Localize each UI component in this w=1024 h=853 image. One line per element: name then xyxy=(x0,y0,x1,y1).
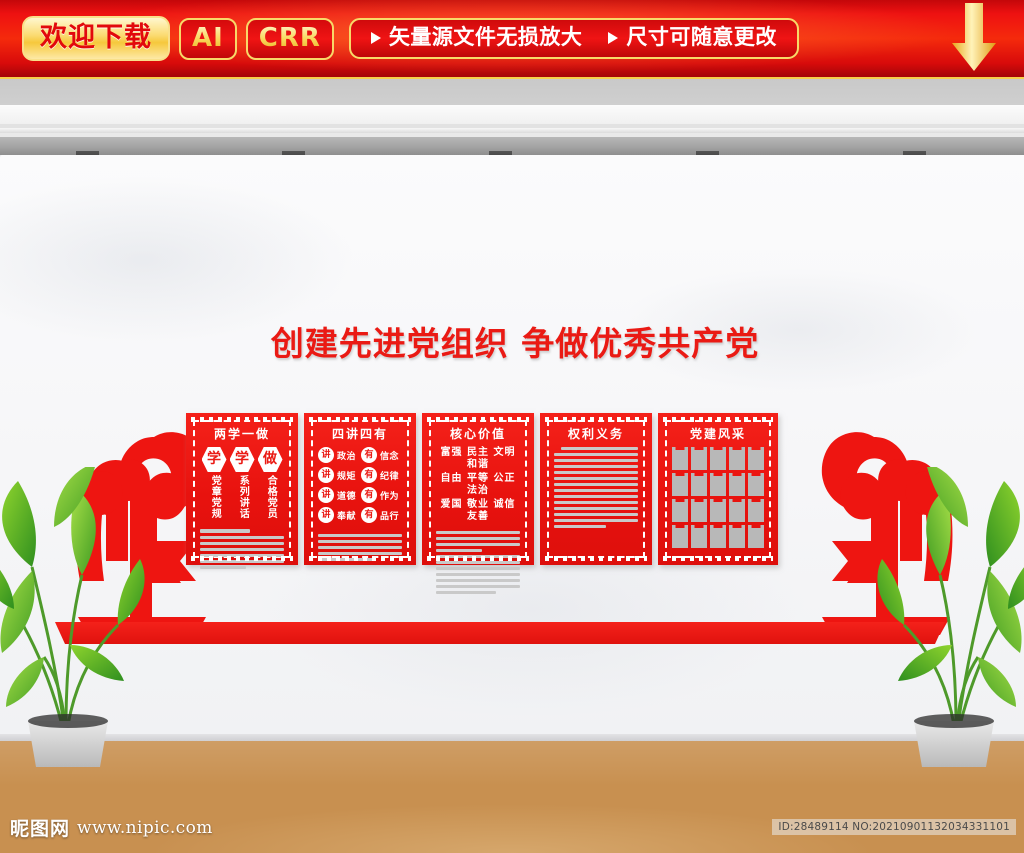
placeholder-line xyxy=(436,531,520,534)
promo-banner: 欢迎下载 AI CRR 矢量源文件无损放大 尺寸可随意更改 xyxy=(0,0,1024,79)
photo-grid xyxy=(672,447,764,548)
virtue-label: 道德 xyxy=(337,489,356,502)
placeholder-line xyxy=(554,483,638,486)
room-scene: 创建先进党组织 争做优秀共产党 xyxy=(0,79,1024,853)
format-tag-crr-label: CRR xyxy=(259,23,321,53)
hex-badge-icon: 学 xyxy=(230,447,255,472)
badge-label: 系列讲话 xyxy=(237,475,248,519)
photo-placeholder[interactable] xyxy=(672,499,688,522)
site-logo: 昵图网 xyxy=(10,814,70,841)
photo-placeholder[interactable] xyxy=(729,473,745,496)
potted-plant-icon xyxy=(0,467,152,767)
panel-rights-and-duties[interactable]: 权利义务 xyxy=(540,413,652,565)
site-url: www.nipic.com xyxy=(77,818,213,838)
circle-badge-icon: 讲 xyxy=(318,467,334,483)
hex-badge-icon: 学 xyxy=(202,447,227,472)
placeholder-line xyxy=(554,465,638,468)
potted-plant-icon xyxy=(870,467,1024,767)
virtue-label: 纪律 xyxy=(380,469,399,482)
placeholder-line xyxy=(318,540,402,543)
panel-four-musts[interactable]: 四讲四有 讲政治 有信念 讲规矩 有纪律 讲道德 有作为 讲奉献 有品行 xyxy=(304,413,416,565)
virtue-grid: 讲政治 有信念 讲规矩 有纪律 讲道德 有作为 讲奉献 有品行 xyxy=(318,447,402,523)
badge-item: 学 系列讲话 xyxy=(228,447,256,519)
photo-placeholder[interactable] xyxy=(729,525,745,548)
virtue-label: 政治 xyxy=(337,449,356,462)
placeholder-line xyxy=(554,459,638,462)
photo-placeholder[interactable] xyxy=(691,447,707,470)
virtue-label: 信念 xyxy=(380,449,399,462)
photo-placeholder[interactable] xyxy=(691,473,707,496)
placeholder-line xyxy=(554,507,638,510)
photo-placeholder[interactable] xyxy=(710,473,726,496)
placeholder-line xyxy=(436,585,520,588)
welcome-download-badge[interactable]: 欢迎下载 xyxy=(22,16,170,61)
placeholder-line xyxy=(436,549,482,552)
virtue-item: 讲规矩 xyxy=(318,467,359,483)
photo-placeholder[interactable] xyxy=(729,499,745,522)
placeholder-line xyxy=(200,542,284,545)
placeholder-line xyxy=(436,567,520,570)
ceiling xyxy=(0,79,1024,105)
virtue-label: 规矩 xyxy=(337,469,356,482)
panel-two-studies-one-action[interactable]: 两学一做 学 党章党规 学 系列讲话 做 合格党员 xyxy=(186,413,298,565)
promo-feature-list: 矢量源文件无损放大 尺寸可随意更改 xyxy=(349,18,799,59)
panel-title: 核心价值 xyxy=(436,428,520,440)
circle-badge-icon: 有 xyxy=(361,507,377,523)
circle-badge-icon: 有 xyxy=(361,447,377,463)
photo-placeholder[interactable] xyxy=(710,525,726,548)
promo-feature-item: 尺寸可随意更改 xyxy=(608,27,777,48)
format-tag-crr[interactable]: CRR xyxy=(246,18,334,60)
photo-placeholder[interactable] xyxy=(672,525,688,548)
placeholder-line xyxy=(318,558,375,561)
core-value-line: 爱国 敬业 诚信 友善 xyxy=(436,499,520,523)
placeholder-line xyxy=(200,566,246,569)
format-tag-ai[interactable]: AI xyxy=(179,18,237,60)
virtue-item: 有信念 xyxy=(361,447,402,463)
placeholder-line xyxy=(318,546,402,549)
placeholder-line xyxy=(554,525,606,528)
photo-placeholder[interactable] xyxy=(691,499,707,522)
virtue-item: 有纪律 xyxy=(361,467,402,483)
placeholder-line xyxy=(200,548,284,551)
placeholder-line xyxy=(200,536,284,539)
light-rail xyxy=(0,137,1024,155)
placeholder-line xyxy=(318,534,402,537)
panel-inner: 四讲四有 讲政治 有信念 讲规矩 有纪律 讲道德 有作为 讲奉献 有品行 xyxy=(311,420,409,558)
placeholder-text-block xyxy=(436,531,520,594)
panel-title: 党建风采 xyxy=(672,428,764,440)
photo-placeholder[interactable] xyxy=(748,447,764,470)
badge-label: 合格党员 xyxy=(265,475,276,519)
virtue-item: 有品行 xyxy=(361,507,402,523)
placeholder-line xyxy=(554,477,638,480)
format-tag-ai-label: AI xyxy=(192,23,224,53)
crown-molding xyxy=(0,105,1024,124)
placeholder-line xyxy=(554,453,638,456)
panel-party-gallery[interactable]: 党建风采 xyxy=(658,413,778,565)
badge-row: 学 党章党规 学 系列讲话 做 合格党员 xyxy=(200,447,284,519)
promo-feature-item: 矢量源文件无损放大 xyxy=(371,27,583,48)
core-value-line: 富强 民主 文明 和谐 xyxy=(436,447,520,471)
arrow-down-icon[interactable] xyxy=(948,3,1000,75)
panel-group: 两学一做 学 党章党规 学 系列讲话 做 合格党员 xyxy=(186,413,778,565)
panel-core-values[interactable]: 核心价值 富强 民主 文明 和谐 自由 平等 公正 法治 爱国 敬业 诚信 友善 xyxy=(422,413,534,565)
panel-inner: 党建风采 xyxy=(665,420,771,558)
placeholder-text-block xyxy=(318,534,402,561)
virtue-label: 作为 xyxy=(380,489,399,502)
virtue-item: 讲道德 xyxy=(318,487,359,503)
photo-placeholder[interactable] xyxy=(729,447,745,470)
party-culture-wall-display: 创建先进党组织 争做优秀共产党 xyxy=(60,337,965,582)
panel-inner: 两学一做 学 党章党规 学 系列讲话 做 合格党员 xyxy=(193,420,291,558)
badge-item: 做 合格党员 xyxy=(256,447,284,519)
badge-label: 党章党规 xyxy=(209,475,220,519)
panel-inner: 权利义务 xyxy=(547,420,645,558)
virtue-item: 讲奉献 xyxy=(318,507,359,523)
placeholder-line xyxy=(554,471,638,474)
panel-title: 四讲四有 xyxy=(318,428,402,440)
placeholder-line xyxy=(554,519,638,522)
placeholder-line xyxy=(200,560,284,563)
badge-item: 学 党章党规 xyxy=(200,447,228,519)
panel-inner: 核心价值 富强 民主 文明 和谐 自由 平等 公正 法治 爱国 敬业 诚信 友善 xyxy=(429,420,527,558)
placeholder-line xyxy=(436,591,496,594)
circle-badge-icon: 讲 xyxy=(318,507,334,523)
placeholder-line xyxy=(436,579,520,582)
placeholder-line xyxy=(200,554,284,557)
photo-placeholder[interactable] xyxy=(710,447,726,470)
placeholder-line xyxy=(436,573,520,576)
triangle-right-icon xyxy=(371,32,381,44)
placeholder-line xyxy=(554,513,638,516)
placeholder-line xyxy=(554,495,638,498)
asset-id-watermark: ID:28489114 NO:20210901132034331101 xyxy=(772,819,1016,835)
circle-badge-icon: 有 xyxy=(361,487,377,503)
virtue-item: 有作为 xyxy=(361,487,402,503)
triangle-right-icon xyxy=(608,32,618,44)
core-value-line: 自由 平等 公正 法治 xyxy=(436,473,520,497)
virtue-label: 品行 xyxy=(380,509,399,522)
circle-badge-icon: 有 xyxy=(361,467,377,483)
photo-placeholder[interactable] xyxy=(748,473,764,496)
photo-placeholder[interactable] xyxy=(748,525,764,548)
placeholder-line xyxy=(554,501,638,504)
display-headline: 创建先进党组织 争做优秀共产党 xyxy=(205,327,825,360)
photo-placeholder[interactable] xyxy=(710,499,726,522)
display-base-bar xyxy=(55,622,945,644)
panel-title: 两学一做 xyxy=(200,428,284,440)
placeholder-text-block xyxy=(200,529,284,569)
placeholder-line xyxy=(318,552,402,555)
placeholder-line xyxy=(561,447,638,450)
placeholder-line xyxy=(436,561,520,564)
photo-placeholder[interactable] xyxy=(691,525,707,548)
circle-badge-icon: 讲 xyxy=(318,487,334,503)
circle-badge-icon: 讲 xyxy=(318,447,334,463)
photo-placeholder[interactable] xyxy=(748,499,764,522)
panel-title: 权利义务 xyxy=(554,428,638,440)
virtue-item: 讲政治 xyxy=(318,447,359,463)
placeholder-text-block xyxy=(554,447,638,528)
hex-badge-icon: 做 xyxy=(258,447,283,472)
promo-feature-label: 矢量源文件无损放大 xyxy=(389,27,583,48)
placeholder-line xyxy=(554,489,638,492)
virtue-label: 奉献 xyxy=(337,509,356,522)
site-watermark: 昵图网 www.nipic.com xyxy=(10,814,213,841)
photo-placeholder[interactable] xyxy=(672,473,688,496)
placeholder-line xyxy=(436,537,520,540)
promo-feature-label: 尺寸可随意更改 xyxy=(626,27,777,48)
placeholder-line xyxy=(436,543,520,546)
placeholder-line xyxy=(200,529,250,533)
photo-placeholder[interactable] xyxy=(672,447,688,470)
placeholder-line xyxy=(436,555,520,558)
